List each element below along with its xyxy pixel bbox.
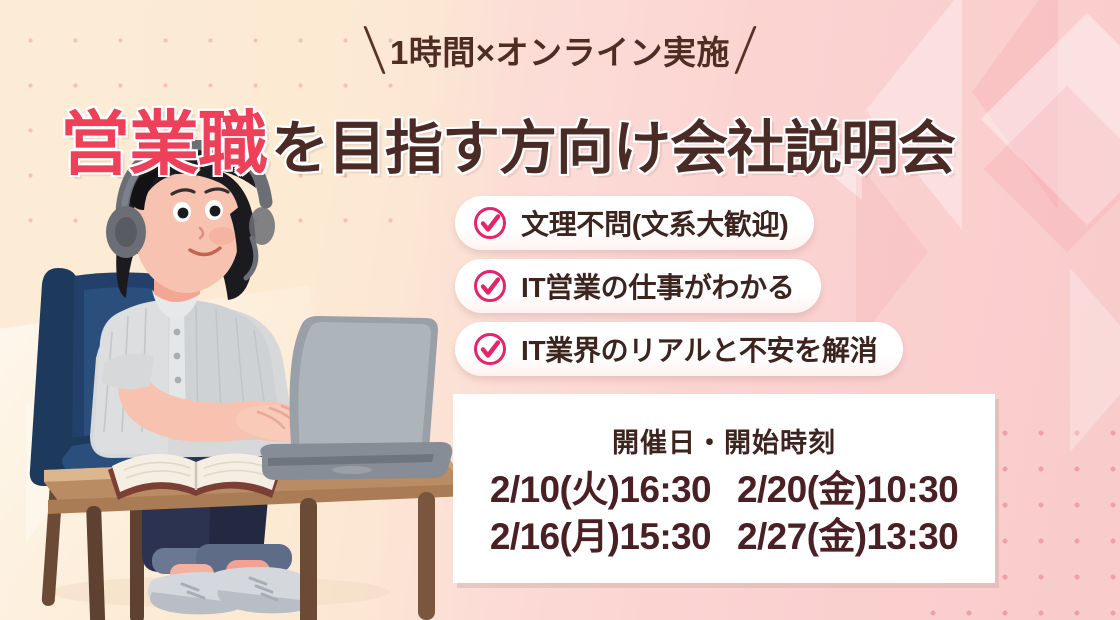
schedule-title: 開催日・開始時刻 — [612, 421, 836, 460]
tagline-slash-right — [734, 26, 756, 74]
tagline-text: 1時間×オンライン実施 — [384, 26, 736, 74]
schedule-date-time: 2/16(月)15:30 — [490, 513, 711, 560]
schedule-box: 開催日・開始時刻 2/10(火)16:30 2/20(金)10:30 2/16(… — [453, 394, 995, 583]
feature-item-label: 文理不問(文系大歓迎) — [521, 203, 788, 243]
decorative-triangle-5 — [1070, 268, 1120, 452]
feature-item-label: IT営業の仕事がわかる — [521, 266, 795, 306]
feature-item-3: IT業界のリアルと不安を解消 — [455, 322, 903, 376]
tagline: 1時間×オンライン実施 — [0, 26, 1120, 74]
woman-with-headphones-at-laptop-illustration — [0, 140, 470, 620]
tagline-slash-left — [363, 26, 385, 74]
schedule-date-time: 2/10(火)16:30 — [490, 466, 711, 513]
schedule-date-time: 2/27(金)13:30 — [737, 513, 958, 560]
check-circle-icon — [473, 269, 507, 303]
check-circle-icon — [473, 206, 507, 240]
schedule-row: 2/16(月)15:30 2/27(金)13:30 — [490, 513, 958, 560]
page-title: 営業職 を目指す方向け会社説明会 — [60, 88, 955, 189]
promo-banner: 1時間×オンライン実施 営業職 を目指す方向け会社説明会 文理不問(文系大歓迎)… — [0, 0, 1120, 620]
feature-item-1: 文理不問(文系大歓迎) — [455, 196, 814, 250]
feature-item-label: IT業界のリアルと不安を解消 — [521, 329, 877, 369]
schedule-date-time: 2/20(金)10:30 — [737, 466, 958, 513]
headline-highlight: 営業職 — [60, 88, 267, 189]
feature-list: 文理不問(文系大歓迎) IT営業の仕事がわかる IT業界のリアルと不安を解消 — [455, 196, 903, 376]
headline-rest: を目指す方向け会社説明会 — [271, 101, 955, 185]
feature-item-2: IT営業の仕事がわかる — [455, 259, 821, 313]
check-circle-icon — [473, 332, 507, 366]
schedule-row: 2/10(火)16:30 2/20(金)10:30 — [490, 466, 958, 513]
